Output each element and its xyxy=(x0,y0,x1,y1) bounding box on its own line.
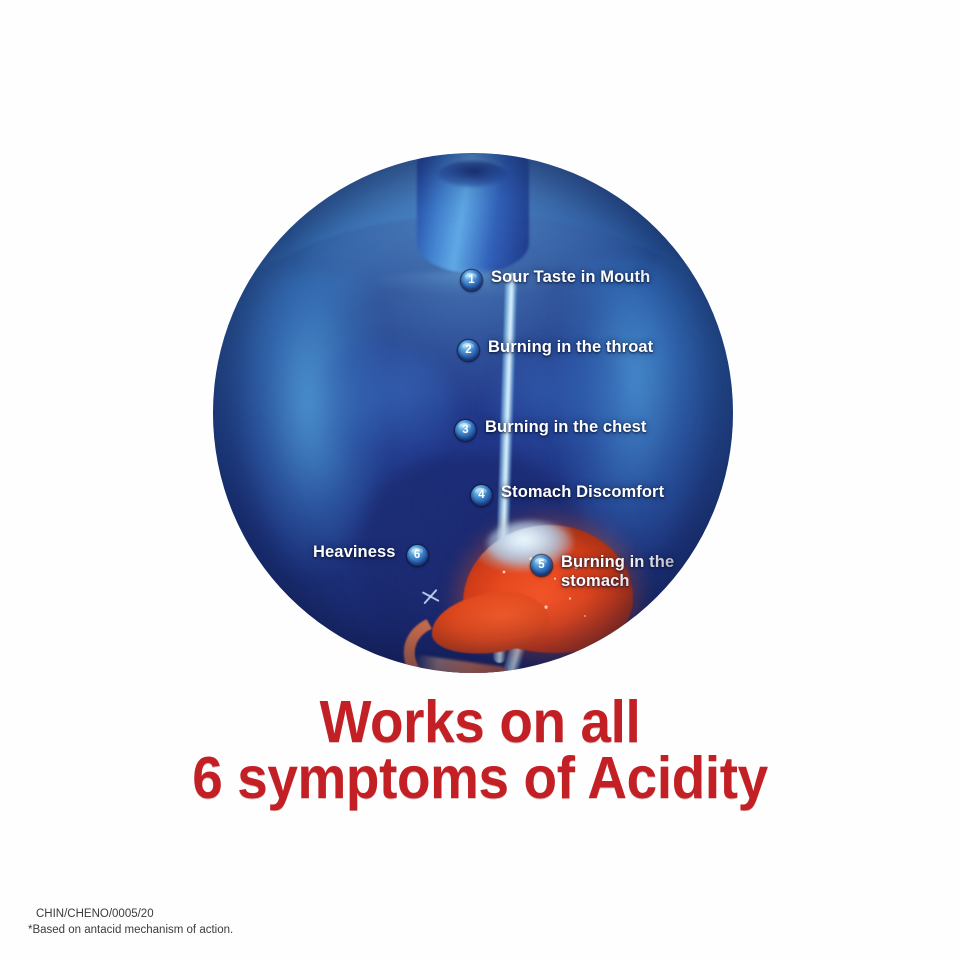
footer-disclaimer: *Based on antacid mechanism of action. xyxy=(28,922,233,938)
symptom-callout-2[interactable]: 2 Burning in the throat xyxy=(458,338,653,361)
symptom-label-3: Burning in the chest xyxy=(485,418,647,437)
symptom-label-6: Heaviness xyxy=(313,543,396,562)
symptom-number-badge-3: 3 xyxy=(455,420,476,441)
stomach-group xyxy=(391,519,661,673)
symptom-number-badge-4: 4 xyxy=(471,485,492,506)
symptom-callout-4[interactable]: 4 Stomach Discomfort xyxy=(471,483,664,506)
symptom-number-badge-1: 1 xyxy=(461,270,482,291)
headline-line-2: 6 symptoms of Acidity xyxy=(34,750,927,806)
left-arm-shading xyxy=(213,273,385,673)
headline-line-1: Works on all xyxy=(34,694,927,750)
symptom-number-badge-2: 2 xyxy=(458,340,479,361)
anatomy-circle-illustration: 1 Sour Taste in Mouth 2 Burning in the t… xyxy=(213,153,733,673)
symptom-callout-1[interactable]: 1 Sour Taste in Mouth xyxy=(461,268,650,291)
footer-code: CHIN/CHENO/0005/20 xyxy=(36,906,233,922)
symptom-label-1: Sour Taste in Mouth xyxy=(491,268,650,287)
left-pectoral-shading xyxy=(305,343,455,473)
symptom-callout-3[interactable]: 3 Burning in the chest xyxy=(455,418,647,441)
symptom-callout-5[interactable]: 5 Burning in the stomach xyxy=(531,553,693,591)
footer: CHIN/CHENO/0005/20 *Based on antacid mec… xyxy=(28,906,233,938)
symptom-label-4: Stomach Discomfort xyxy=(501,483,664,502)
symptom-number-badge-5: 5 xyxy=(531,555,552,576)
symptom-label-2: Burning in the throat xyxy=(488,338,653,357)
throat-ring xyxy=(438,159,508,187)
headline: Works on all 6 symptoms of Acidity xyxy=(34,694,927,806)
symptom-number-badge-6: 6 xyxy=(407,545,428,566)
symptom-callout-6[interactable]: Heaviness 6 xyxy=(313,543,428,566)
symptom-label-5: Burning in the stomach xyxy=(561,553,693,591)
reflux-arrow-icon xyxy=(417,579,452,614)
poster-canvas: 1 Sour Taste in Mouth 2 Burning in the t… xyxy=(0,0,960,960)
